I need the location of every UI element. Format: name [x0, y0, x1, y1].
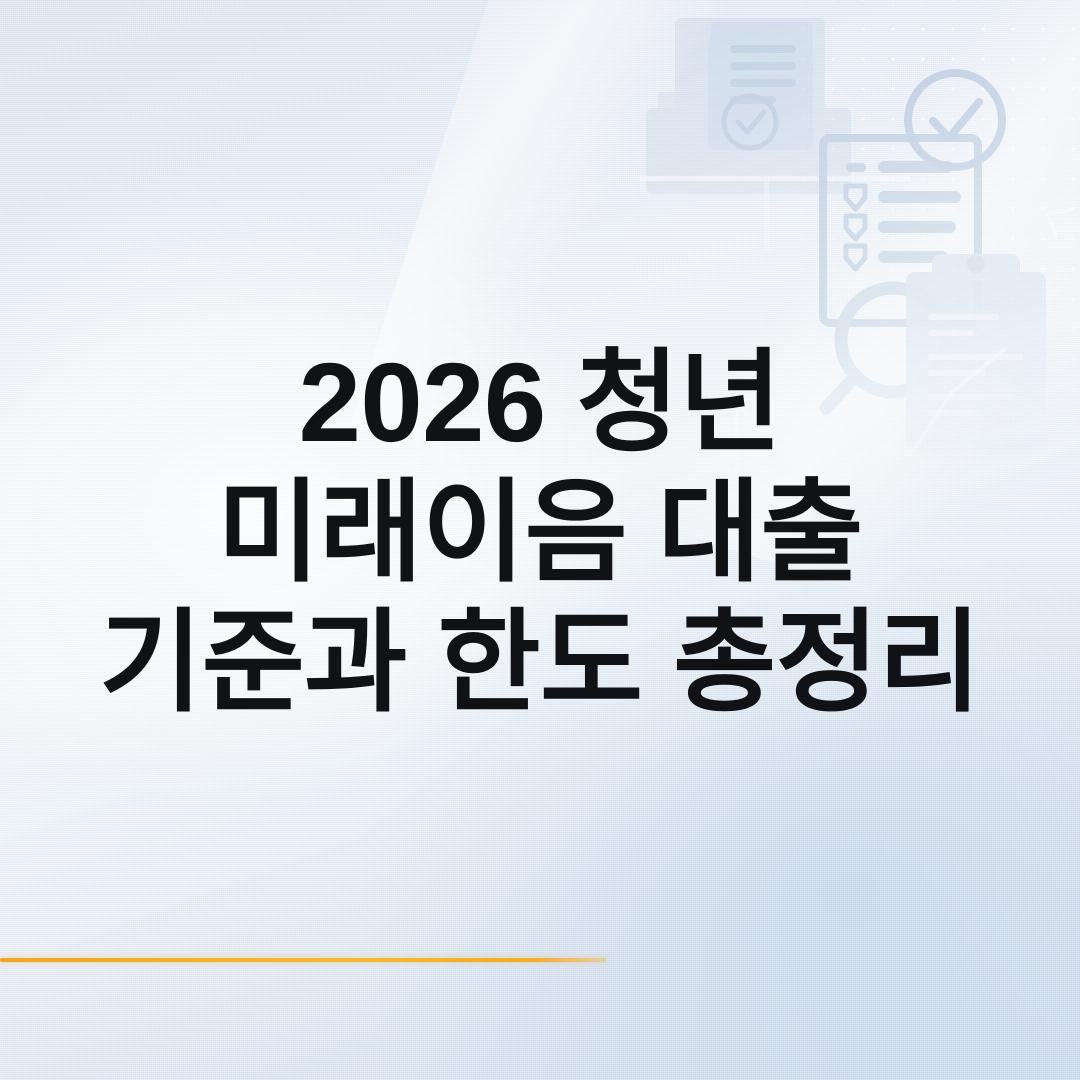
thumbnail-canvas: 2026 청년 미래이음 대출 기준과 한도 총정리	[0, 0, 1080, 1080]
title-line-3: 기준과 한도 총정리	[20, 598, 1060, 728]
title-line-2: 미래이음 대출	[20, 468, 1060, 598]
accent-rule-divider	[0, 958, 606, 962]
page-title: 2026 청년 미래이음 대출 기준과 한도 총정리	[0, 338, 1080, 728]
title-line-1: 2026 청년	[20, 338, 1060, 468]
